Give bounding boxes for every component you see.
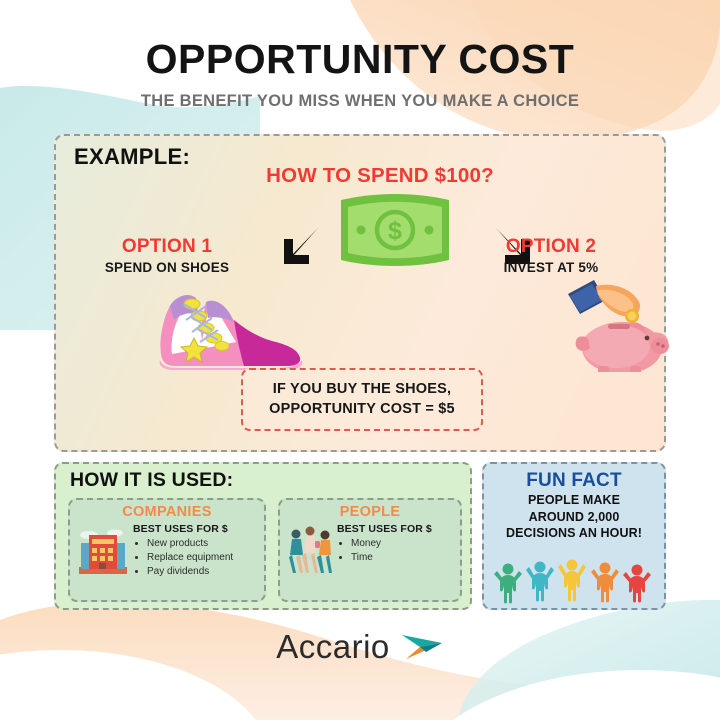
- office-building-icon: [75, 523, 131, 579]
- people-uses-list: Money Time: [337, 537, 455, 565]
- celebrating-people-icon: [492, 558, 660, 604]
- list-item: Money: [351, 537, 455, 551]
- list-item: Pay dividends: [147, 565, 259, 579]
- example-panel: EXAMPLE: HOW TO SPEND $100? $ OPTION 1: [54, 134, 666, 452]
- spend-question: HOW TO SPEND $100?: [56, 164, 664, 188]
- how-it-is-used-label: HOW IT IS USED:: [70, 469, 233, 492]
- list-item: Replace equipment: [147, 551, 259, 565]
- dollar-bill-icon: $: [335, 186, 455, 274]
- people-best-uses-label: BEST USES FOR $: [337, 523, 455, 535]
- option-1-subtitle: SPEND ON SHOES: [72, 260, 262, 275]
- svg-text:$: $: [388, 217, 402, 245]
- arrow-down-left-icon: [278, 224, 324, 270]
- sneaker-icon: [148, 280, 308, 372]
- fun-fact-line-3: DECISIONS AN HOUR!: [484, 525, 664, 542]
- fun-fact-line-2: AROUND 2,000: [484, 509, 664, 526]
- companies-title: COMPANIES: [70, 504, 264, 520]
- conclusion-line-1: IF YOU BUY THE SHOES,: [251, 379, 473, 399]
- option-2-title: OPTION 2: [456, 236, 646, 258]
- page-subtitle: THE BENEFIT YOU MISS WHEN YOU MAKE A CHO…: [0, 92, 720, 111]
- fun-fact-line-1: PEOPLE MAKE: [484, 492, 664, 509]
- infographic-canvas: OPPORTUNITY COST THE BENEFIT YOU MISS WH…: [0, 0, 720, 720]
- companies-uses-list: New products Replace equipment Pay divid…: [133, 537, 259, 580]
- arrow-brand-mark: [400, 632, 444, 662]
- opportunity-cost-callout: IF YOU BUY THE SHOES, OPPORTUNITY COST =…: [241, 368, 483, 431]
- companies-card: COMPANIES: [68, 498, 266, 602]
- piggy-bank-icon: [554, 276, 684, 372]
- page-title: OPPORTUNITY COST: [0, 36, 720, 83]
- fun-fact-panel: FUN FACT PEOPLE MAKE AROUND 2,000 DECISI…: [482, 462, 666, 610]
- walking-people-icon: [285, 523, 335, 579]
- list-item: New products: [147, 537, 259, 551]
- conclusion-line-2: OPPORTUNITY COST = $5: [251, 399, 473, 419]
- option-2: OPTION 2 INVEST AT 5%: [456, 236, 646, 275]
- brand-logo: Accario: [0, 628, 720, 666]
- option-2-subtitle: INVEST AT 5%: [456, 260, 646, 275]
- fun-fact-title: FUN FACT: [484, 470, 664, 492]
- list-item: Time: [351, 551, 455, 565]
- brand-name: Accario: [276, 628, 390, 666]
- people-card: PEOPLE: [278, 498, 462, 602]
- how-it-is-used-panel: HOW IT IS USED: COMPANIES: [54, 462, 472, 610]
- people-title: PEOPLE: [280, 504, 460, 520]
- option-1-title: OPTION 1: [72, 236, 262, 258]
- companies-best-uses-label: BEST USES FOR $: [133, 523, 259, 535]
- option-1: OPTION 1 SPEND ON SHOES: [72, 236, 262, 275]
